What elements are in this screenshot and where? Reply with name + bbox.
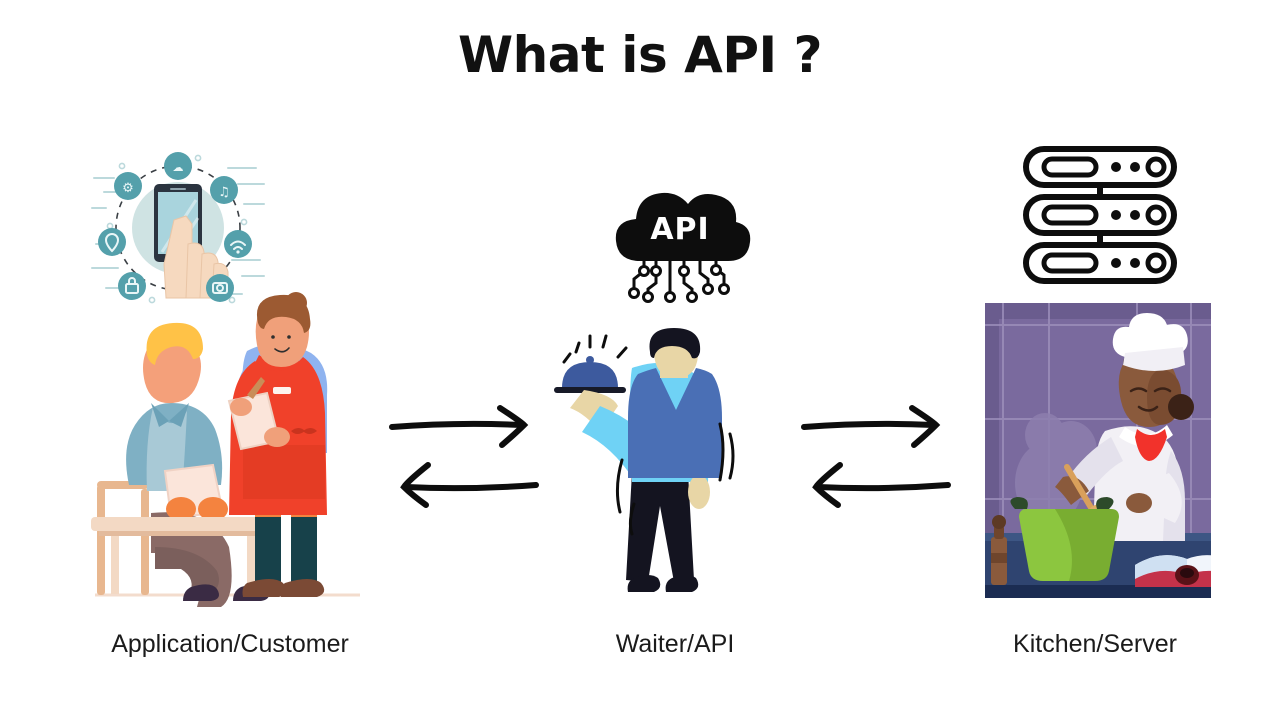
smartphone-touch-app-icon: ☁ ⚙ ♫	[92, 148, 264, 308]
caption-waiter-api: Waiter/API	[480, 630, 870, 659]
svg-text:☁: ☁	[173, 161, 184, 174]
api-cloud-icon: API	[604, 183, 756, 308]
caption-application-customer: Application/Customer	[0, 630, 460, 659]
chef-cooking-illustration	[985, 303, 1211, 598]
server-rack-icon	[1020, 145, 1180, 285]
slide-canvas: What is API ?	[0, 0, 1280, 720]
caption-kitchen-server: Kitchen/Server	[900, 630, 1280, 659]
arrow-pair-left	[388, 405, 540, 505]
svg-text:⚙: ⚙	[122, 181, 134, 196]
arrow-api-to-app	[404, 465, 536, 505]
customer-ordering-illustration	[95, 295, 360, 600]
waitress-taking-order	[229, 292, 327, 597]
waiter-with-cloche-illustration	[548, 332, 748, 600]
arrow-server-to-api	[816, 465, 948, 505]
page-title: What is API ?	[0, 26, 1280, 84]
svg-text:♫: ♫	[218, 185, 230, 200]
arrow-api-to-server	[804, 408, 936, 445]
arrow-pair-right	[800, 405, 952, 505]
api-cloud-label: API	[650, 212, 709, 247]
arrow-app-to-api	[392, 408, 524, 445]
